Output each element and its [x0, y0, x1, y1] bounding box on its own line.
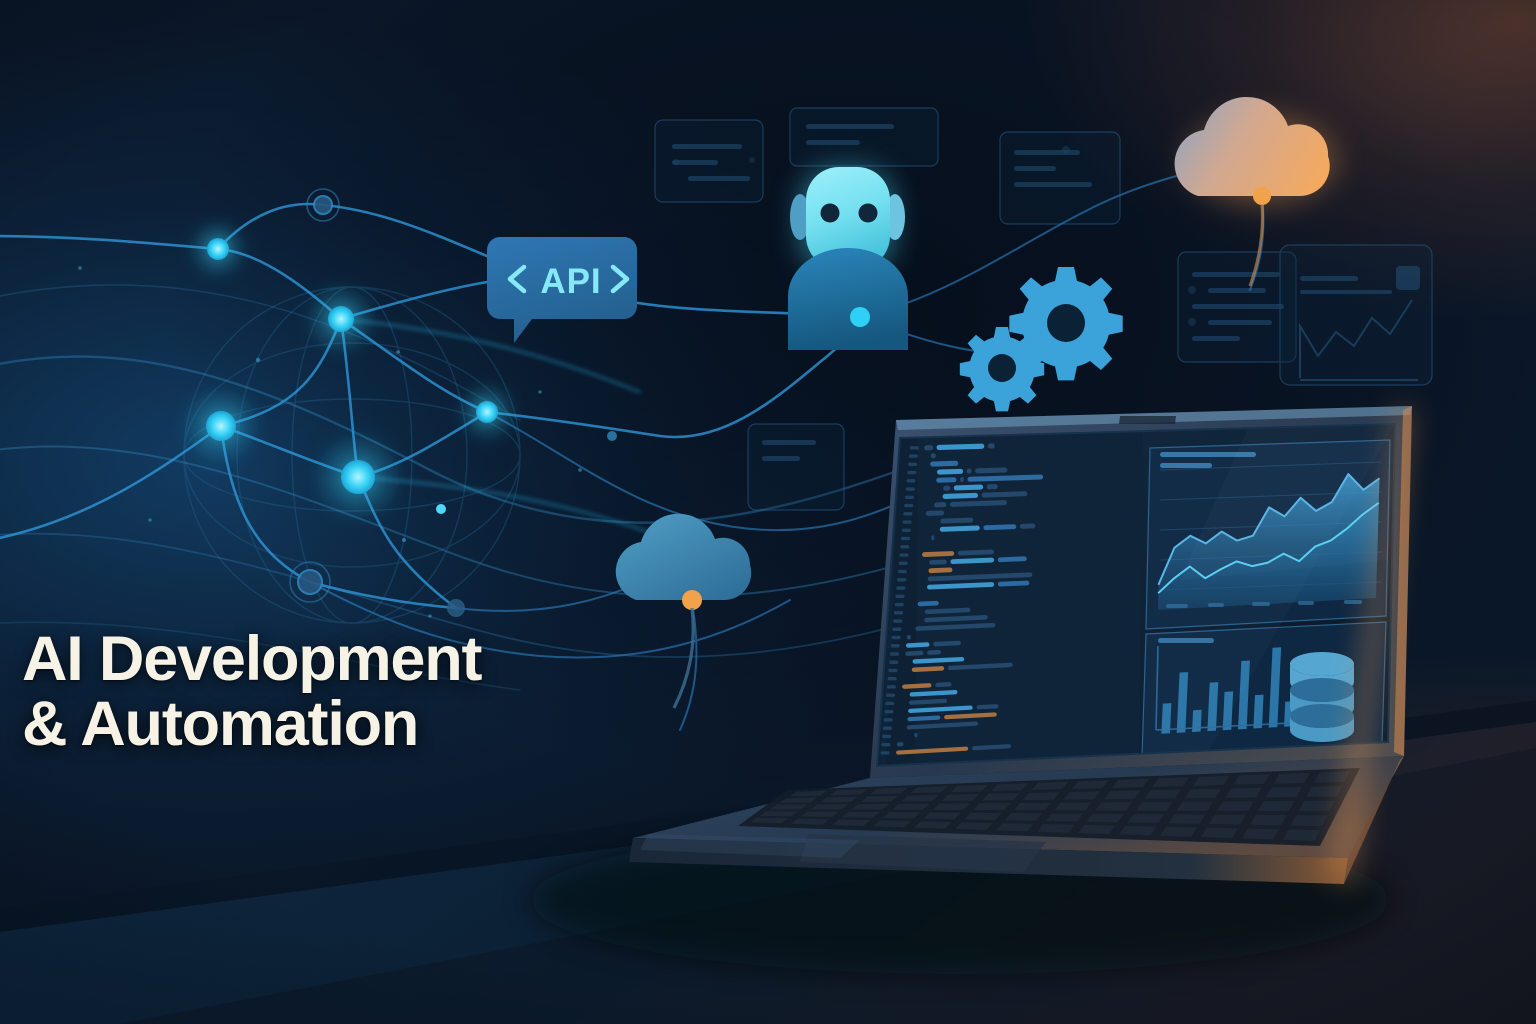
page-title-line-1: AI Development [22, 624, 481, 694]
page-title: AI Development & Automation [22, 627, 481, 757]
hero-image: API [0, 0, 1536, 1024]
page-title-line-2: & Automation [22, 692, 481, 757]
vignette-overlay [0, 0, 1536, 1024]
